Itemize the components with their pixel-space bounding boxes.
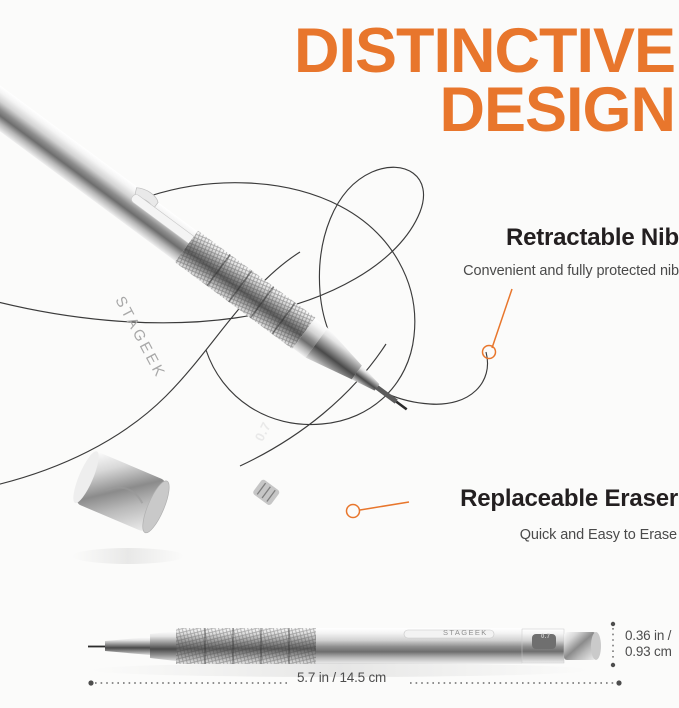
callout-retractable-nib: Retractable Nib Convenient and fully pro…: [463, 224, 679, 279]
page-title: DISTINCTIVE DESIGN: [294, 22, 675, 139]
lead-size-indicator-small: 0.7: [541, 634, 550, 640]
length-dimension-label: 5.7 in / 14.5 cm: [297, 670, 386, 686]
diameter-dimension-line: [611, 622, 615, 667]
lead-size-indicator: 0.7: [252, 419, 274, 443]
callout-replaceable-eraser: Replaceable Eraser Quick and Easy to Era…: [460, 485, 678, 543]
callout-subtitle-retractable-nib: Convenient and fully protected nib: [463, 263, 679, 279]
callout-title-replaceable-eraser: Replaceable Eraser: [460, 485, 678, 513]
headline-line-2: DESIGN: [294, 81, 675, 140]
leader-line-eraser: [347, 502, 410, 518]
product-feature-graphic: STAGEEK 0.7 STAGEEK 0.7 DISTINCTIVE DESI…: [0, 0, 679, 708]
brand-engraving-small: STAGEEK: [443, 628, 488, 637]
diameter-dimension-label: 0.36 in / 0.93 cm: [625, 628, 672, 661]
diameter-label-inches: 0.36 in /: [625, 628, 671, 643]
brand-engraving-main: STAGEEK: [111, 294, 169, 382]
callout-title-retractable-nib: Retractable Nib: [463, 224, 679, 252]
headline-line-1: DISTINCTIVE: [294, 22, 675, 81]
callout-subtitle-replaceable-eraser: Quick and Easy to Erase: [460, 527, 677, 543]
diameter-label-cm: 0.93 cm: [625, 644, 672, 659]
leader-line-nib: [483, 289, 513, 359]
